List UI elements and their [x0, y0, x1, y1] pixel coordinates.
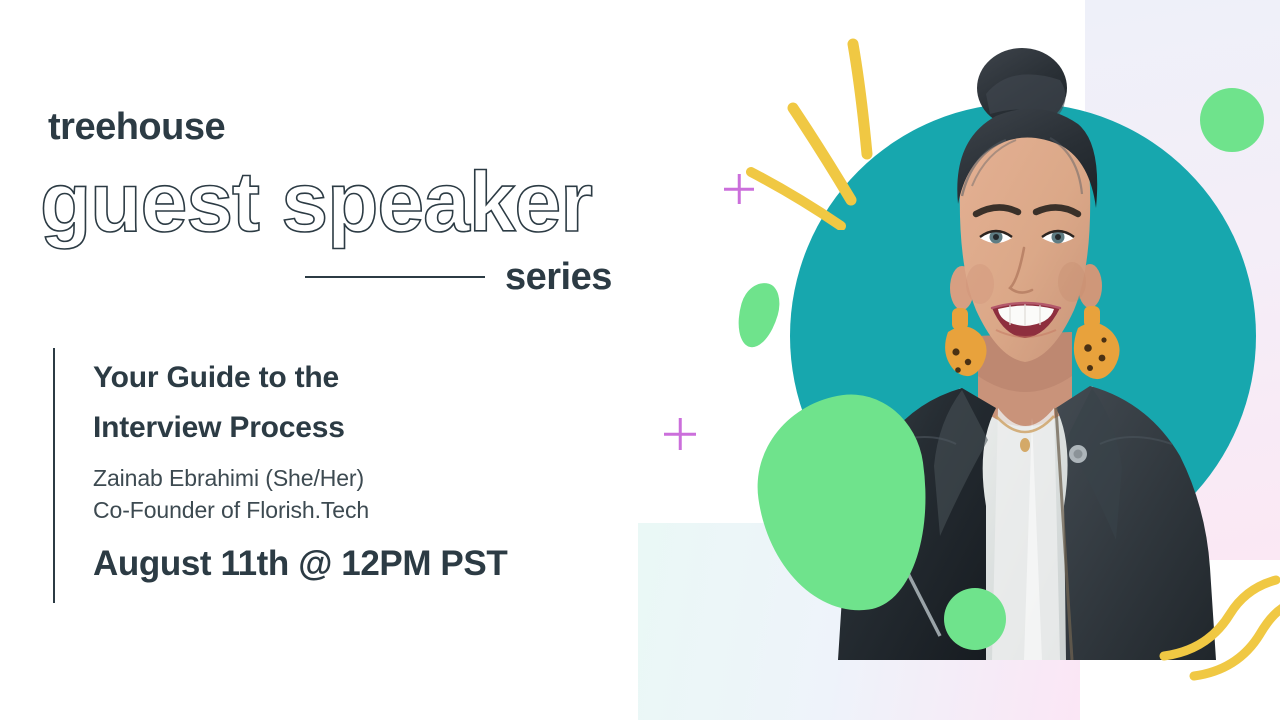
- talk-title-line-1: Your Guide to the: [93, 358, 613, 398]
- green-dot-bottom: [944, 588, 1006, 650]
- speaker-name: Zainab Ebrahimi (She/Her): [93, 463, 613, 495]
- event-info-block: Your Guide to the Interview Process Zain…: [53, 348, 613, 603]
- yellow-sparkle-strokes: [745, 30, 915, 230]
- magenta-plus-icon-upper: [724, 174, 754, 204]
- plus-bar-vertical: [738, 174, 741, 204]
- yellow-curve-strokes: [1150, 570, 1280, 700]
- green-blob-small: [731, 278, 786, 352]
- plus-bar-vertical: [679, 418, 682, 450]
- guest-speaker-promo-slide: treehouse guest speaker series Your Guid…: [0, 0, 1280, 720]
- magenta-plus-icon-lower: [664, 418, 696, 450]
- series-headline: guest speaker: [40, 160, 592, 244]
- series-label-row: series: [305, 258, 625, 296]
- speaker-role: Co-Founder of Florish.Tech: [93, 495, 613, 527]
- brand-name: treehouse: [48, 108, 225, 146]
- event-datetime: August 11th @ 12PM PST: [93, 543, 613, 585]
- series-divider-rule: [305, 276, 485, 278]
- talk-title-line-2: Interview Process: [93, 408, 613, 448]
- series-label: series: [505, 258, 612, 296]
